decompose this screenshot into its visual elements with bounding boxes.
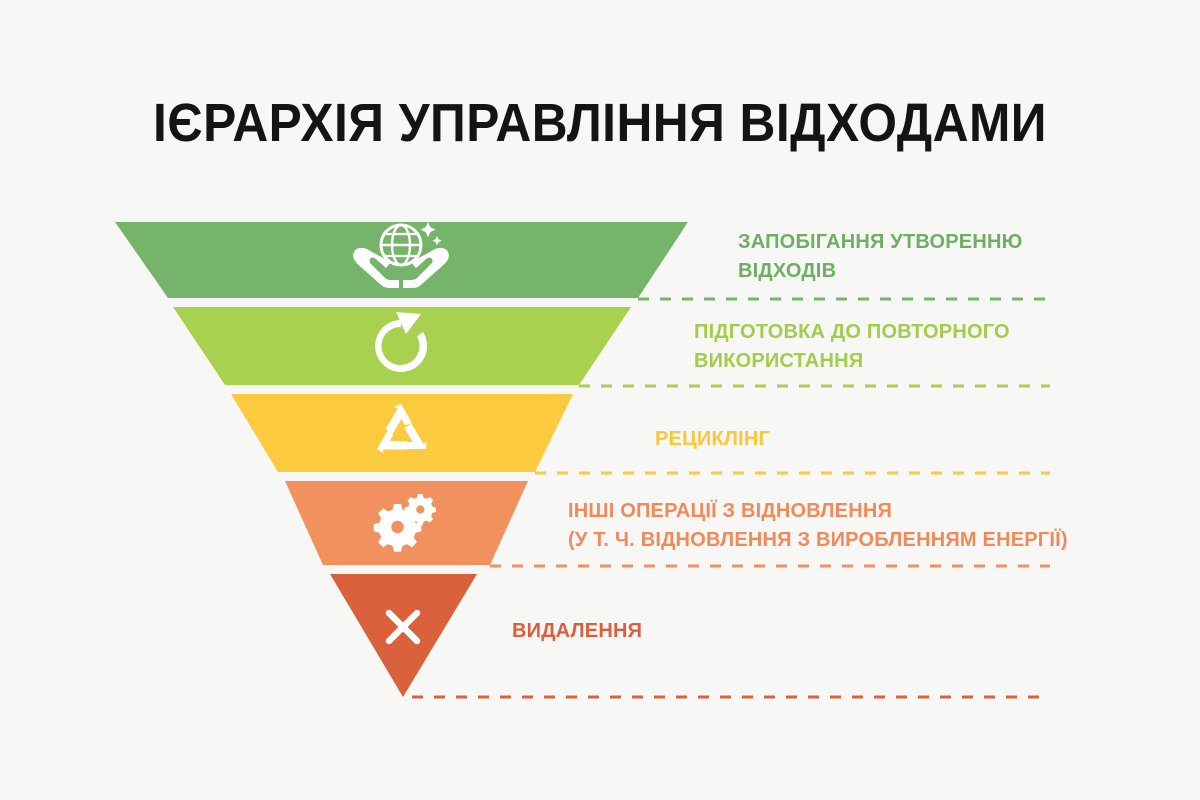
funnel-label-3: РЕЦИКЛІНГ: [655, 425, 770, 454]
funnel-label-2: ПІДГОТОВКА ДО ПОВТОРНОГО ВИКОРИСТАННЯ: [694, 318, 1010, 376]
funnel-labels: ЗАПОБІГАННЯ УТВОРЕННЮ ВІДХОДІВ ПІДГОТОВК…: [0, 0, 1200, 800]
funnel-label-5: ВИДАЛЕННЯ: [512, 617, 642, 646]
funnel-label-1: ЗАПОБІГАННЯ УТВОРЕННЮ ВІДХОДІВ: [738, 228, 1022, 286]
waste-hierarchy-infographic: ІЄРАРХІЯ УПРАВЛІННЯ ВІДХОДАМИ: [0, 0, 1200, 800]
funnel-label-4: ІНШІ ОПЕРАЦІЇ З ВІДНОВЛЕННЯ (У Т. Ч. ВІД…: [568, 497, 1068, 555]
